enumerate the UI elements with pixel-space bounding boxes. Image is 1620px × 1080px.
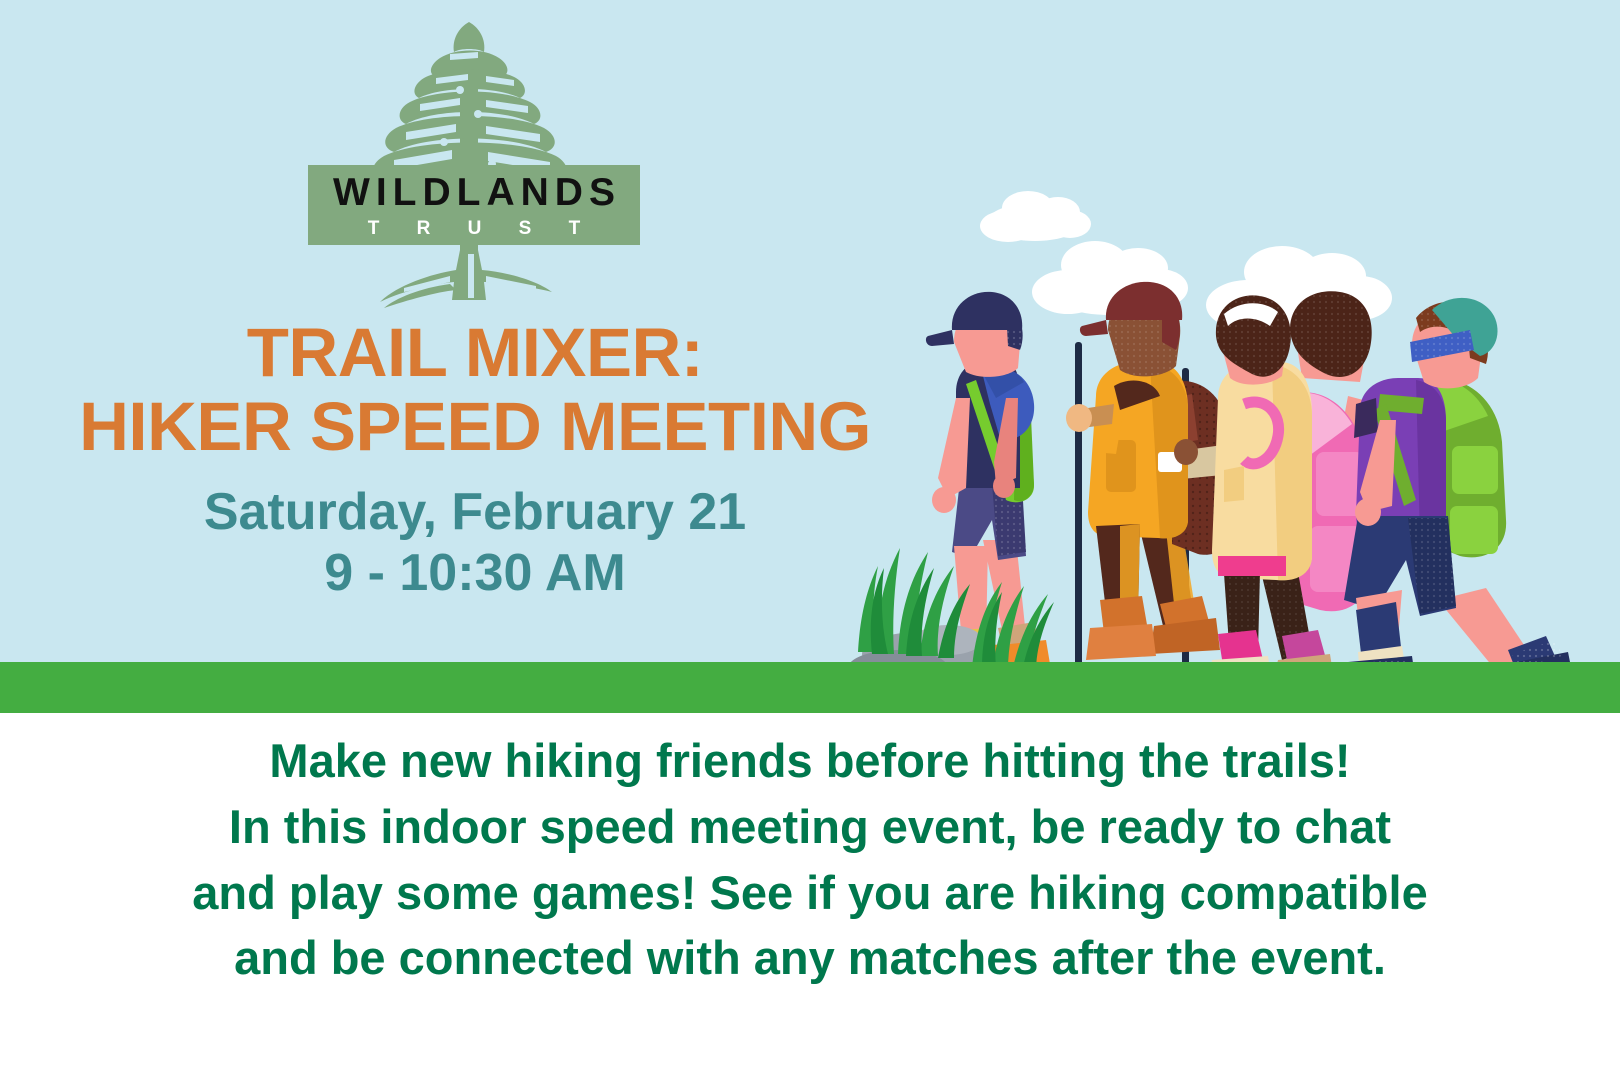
event-time: 9 - 10:30 AM xyxy=(0,543,950,604)
event-flyer: WILDLANDS T R U S T TRAIL MIXER: HIKER S… xyxy=(0,0,1620,1080)
description-line-4: and be connected with any matches after … xyxy=(0,925,1620,991)
description-line-2: In this indoor speed meeting event, be r… xyxy=(0,794,1620,860)
headline-block: TRAIL MIXER: HIKER SPEED MEETING Saturda… xyxy=(0,316,950,604)
logo-wordmark-box: WILDLANDS T R U S T xyxy=(308,165,640,245)
ground-strip xyxy=(0,662,1620,713)
description-line-1: Make new hiking friends before hitting t… xyxy=(0,728,1620,794)
event-description: Make new hiking friends before hitting t… xyxy=(0,728,1620,991)
event-date: Saturday, February 21 xyxy=(0,482,950,543)
logo-name: WILDLANDS xyxy=(327,173,621,212)
event-title-line-1: TRAIL MIXER: xyxy=(0,316,950,390)
cloud-icon xyxy=(980,191,1091,242)
event-title-line-2: HIKER SPEED MEETING xyxy=(0,390,950,464)
hiker-2-orange-jacket xyxy=(1066,282,1232,680)
trekking-pole-icon xyxy=(1075,342,1082,672)
logo-subtitle: T R U S T xyxy=(352,219,596,238)
wildlands-trust-logo: WILDLANDS T R U S T xyxy=(300,14,640,314)
pine-tree-icon xyxy=(300,14,640,314)
description-line-3: and play some games! See if you are hiki… xyxy=(0,860,1620,926)
hiker-4-purple-shirt xyxy=(1344,298,1574,690)
